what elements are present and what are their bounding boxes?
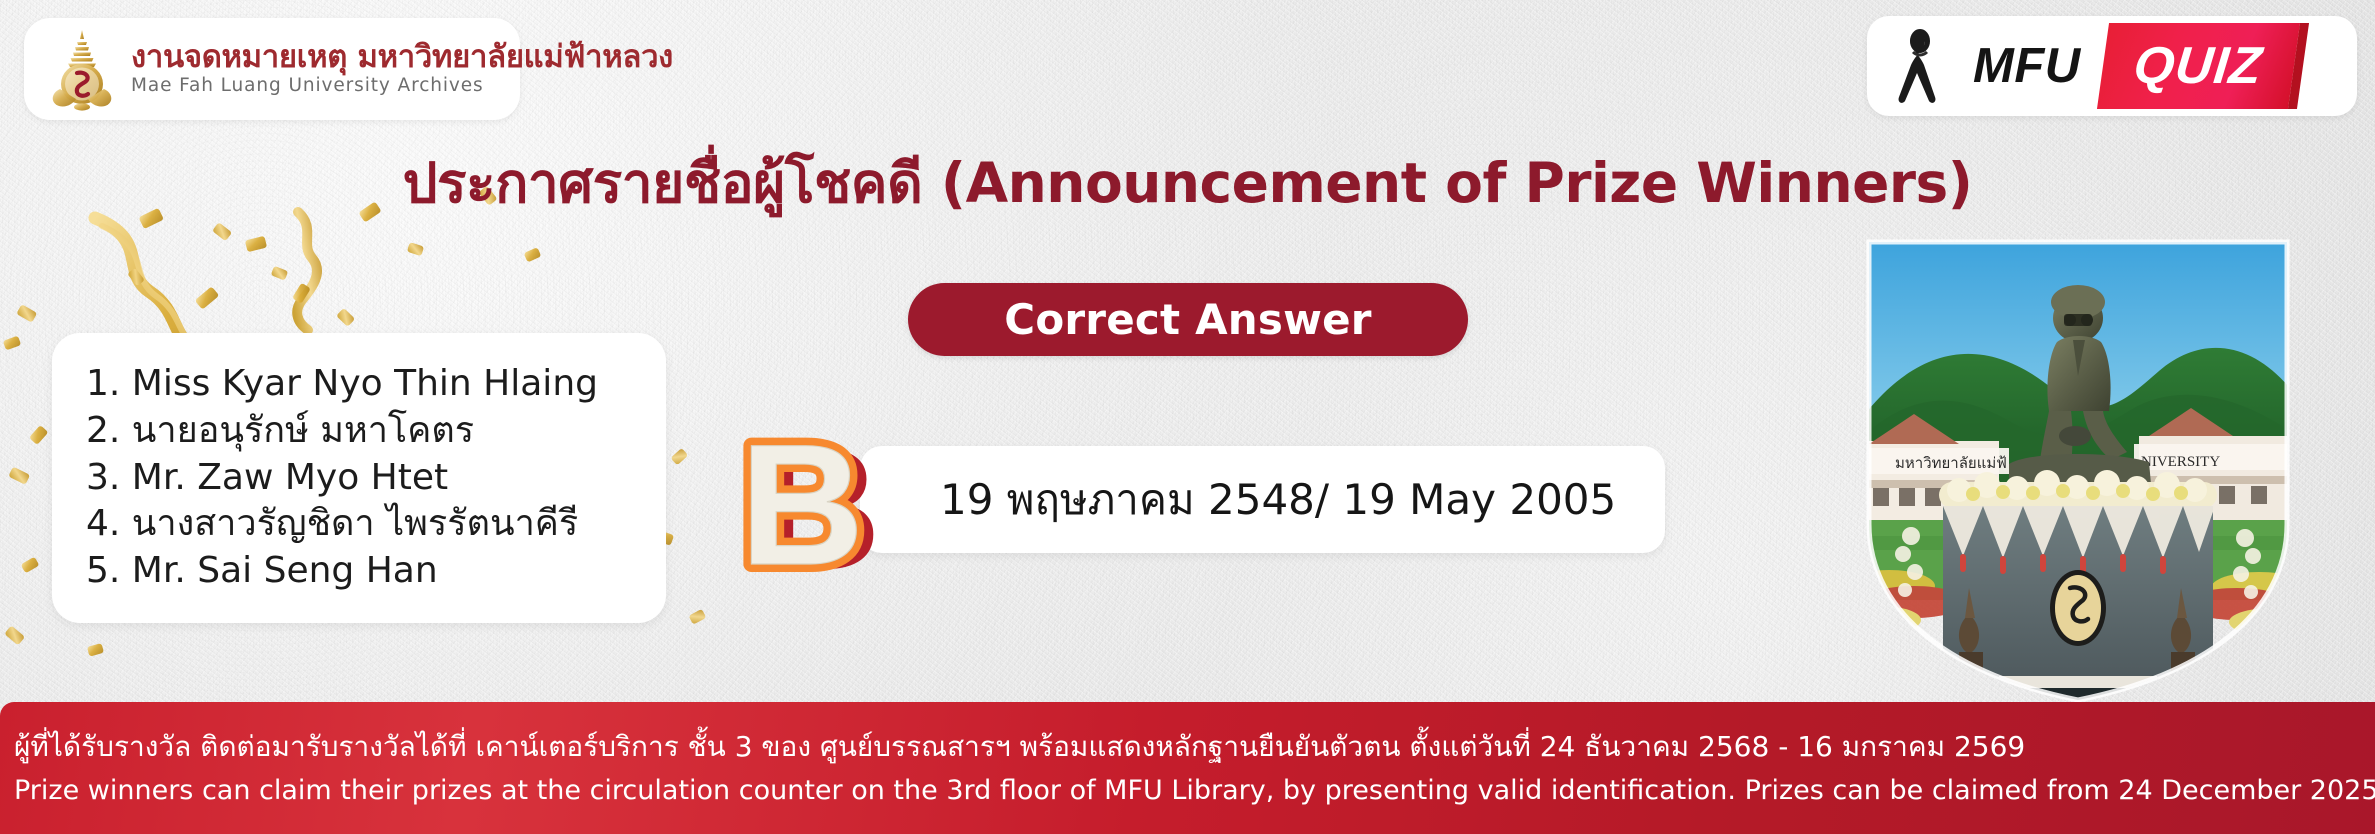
answer-value-box: 19 พฤษภาคม 2548/ 19 May 2005 (860, 446, 1665, 553)
mfu-quiz-logo-pill: MFU QUIZ (1867, 16, 2357, 116)
correct-answer-badge: Correct Answer (908, 283, 1468, 356)
choice-letter-b-icon: B B B B (722, 418, 912, 603)
mfu-crest-icon (46, 27, 118, 111)
list-item: 1. Miss Kyar Nyo Thin Hlaing (86, 361, 632, 408)
archives-logo-pill: งานจดหมายเหตุ มหาวิทยาลัยแม่ฟ้าหลวง Mae … (24, 18, 520, 120)
footer-claim-banner: ผู้ที่ได้รับรางวัล ติดต่อมารับรางวัลได้ท… (0, 702, 2375, 834)
archives-logo-english-name: Mae Fah Luang University Archives (131, 75, 673, 97)
correct-answer-label: Correct Answer (1004, 295, 1371, 344)
photo-building-sign-english: NIVERSITY (2141, 454, 2220, 470)
mfu-wordmark: MFU (1973, 38, 2081, 94)
list-item: 2. นายอนุรักษ์ มหาโคตร (86, 408, 632, 455)
answer-value: 19 พฤษภาคม 2548/ 19 May 2005 (940, 467, 1616, 533)
shield-photo: มหาวิทยาลัยแม่ฟ้ NIVERSITY (1859, 236, 2297, 706)
winners-list-card: 1. Miss Kyar Nyo Thin Hlaing 2. นายอนุรั… (52, 333, 666, 623)
prize-winner-announcement-banner: งานจดหมายเหตุ มหาวิทยาลัยแม่ฟ้าหลวง Mae … (0, 0, 2375, 834)
list-item: 4. นางสาวรัญชิดา ไพรรัตนาคีรี (86, 501, 632, 548)
page-title: ประกาศรายชื่อผู้โชคดี (Announcement of P… (0, 140, 2375, 227)
quiz-tag: QUIZ (2097, 23, 2309, 109)
list-item: 5. Mr. Sai Seng Han (86, 548, 632, 595)
svg-text:B: B (740, 418, 864, 601)
black-mourning-ribbon-icon (1889, 25, 1951, 107)
photo-building-sign-thai: มหาวิทยาลัยแม่ฟ้ (1895, 454, 2007, 472)
footer-thai-text: ผู้ที่ได้รับรางวัล ติดต่อมารับรางวัลได้ท… (14, 729, 2375, 764)
list-item: 3. Mr. Zaw Myo Htet (86, 455, 632, 502)
quiz-wordmark: QUIZ (2131, 36, 2266, 96)
footer-english-text: Prize winners can claim their prizes at … (14, 774, 2375, 808)
archives-logo-thai-name: งานจดหมายเหตุ มหาวิทยาลัยแม่ฟ้าหลวง (131, 41, 673, 74)
